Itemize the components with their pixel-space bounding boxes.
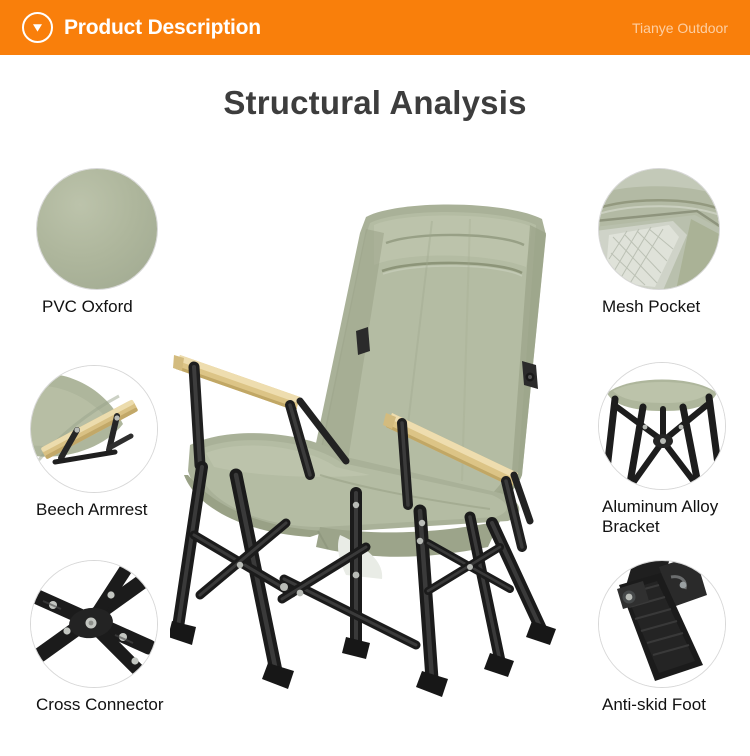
mesh-pocket-photo [598, 168, 720, 290]
callout-mesh-pocket: Mesh Pocket [598, 168, 720, 317]
pvc-oxford-swatch [36, 168, 158, 290]
callout-label-mesh-pocket: Mesh Pocket [598, 297, 720, 317]
chevron-down-circle-icon [22, 12, 53, 43]
callout-label-aluminum-alloy-bracket: Aluminum Alloy Bracket [598, 497, 726, 537]
callout-anti-skid-foot: Anti-skid Foot [598, 560, 726, 715]
callout-label-pvc-oxford: PVC Oxford [36, 297, 158, 317]
callout-label-cross-connector: Cross Connector [30, 695, 164, 715]
header-bar: Product Description Tianye Outdoor [0, 0, 750, 55]
callout-beech-armrest: Beech Armrest [30, 365, 158, 520]
beech-armrest-photo [30, 365, 158, 493]
header-left-group: Product Description [22, 12, 261, 43]
fabric-swatch-fill [37, 169, 157, 289]
header-title: Product Description [64, 16, 261, 40]
callout-aluminum-alloy-bracket: Aluminum Alloy Bracket [598, 362, 726, 537]
callout-label-anti-skid-foot: Anti-skid Foot [598, 695, 726, 715]
callout-cross-connector: Cross Connector [30, 560, 164, 715]
cross-connector-photo [30, 560, 158, 688]
anti-skid-foot-photo [598, 560, 726, 688]
callout-pvc-oxford: PVC Oxford [36, 168, 158, 317]
brand-name: Tianye Outdoor [632, 20, 728, 36]
aluminum-bracket-photo [598, 362, 726, 490]
page-title: Structural Analysis [0, 84, 750, 122]
product-image-camping-chair [170, 175, 580, 700]
callout-label-beech-armrest: Beech Armrest [30, 500, 158, 520]
